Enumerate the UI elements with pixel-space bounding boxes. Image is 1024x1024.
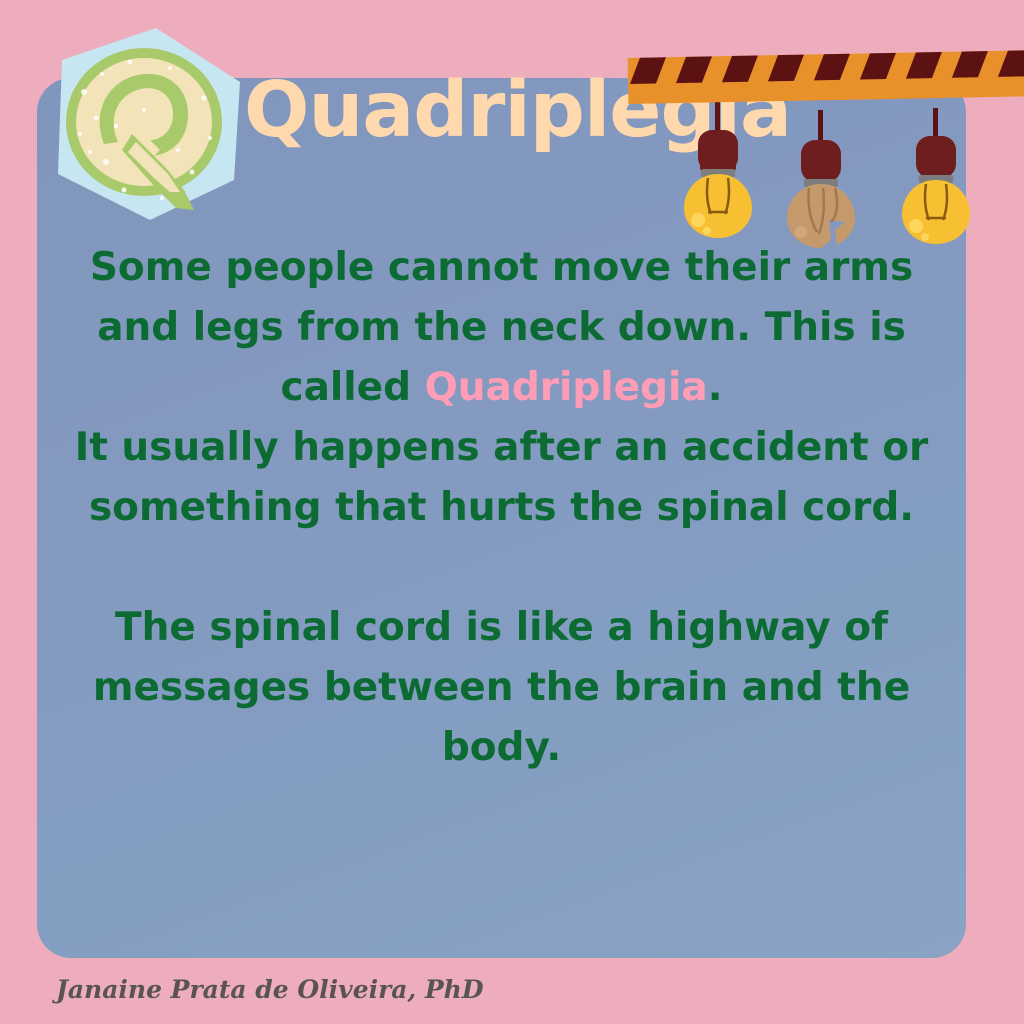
body-line-5: something that hurts the spinal cord. <box>50 478 953 538</box>
poster-canvas: Quadriplegia <box>0 0 1024 1024</box>
body-line-4: It usually happens after an accident or <box>50 418 953 478</box>
body-line-3-suffix: . <box>708 365 723 410</box>
construction-stripe-bar <box>628 50 1024 104</box>
logo-badge <box>44 22 249 227</box>
light-bulb-lit-icon <box>682 100 754 240</box>
light-bulb-lit-icon <box>900 108 972 248</box>
body-line-3-prefix: called <box>280 365 424 410</box>
body-line-7: messages between the brain and the <box>50 658 953 718</box>
light-bulb-lit-right <box>900 108 972 248</box>
body-line-6: The spinal cord is like a highway of <box>50 598 953 658</box>
body-line-2: and legs from the neck down. This is <box>50 298 953 358</box>
body-line-8: body. <box>50 718 953 778</box>
light-bulb-broken-middle <box>785 110 861 250</box>
paragraph-spacer <box>50 538 953 598</box>
body-line-3: called Quadriplegia. <box>50 358 953 418</box>
body-copy: Some people cannot move their arms and l… <box>50 238 953 778</box>
logo-q-icon <box>44 22 249 227</box>
light-bulb-broken-icon <box>785 110 861 250</box>
author-attribution: Janaine Prata de Oliveira, PhD <box>56 975 484 1004</box>
light-bulb-lit-left <box>682 100 754 240</box>
highlight-term: Quadriplegia <box>425 365 708 410</box>
